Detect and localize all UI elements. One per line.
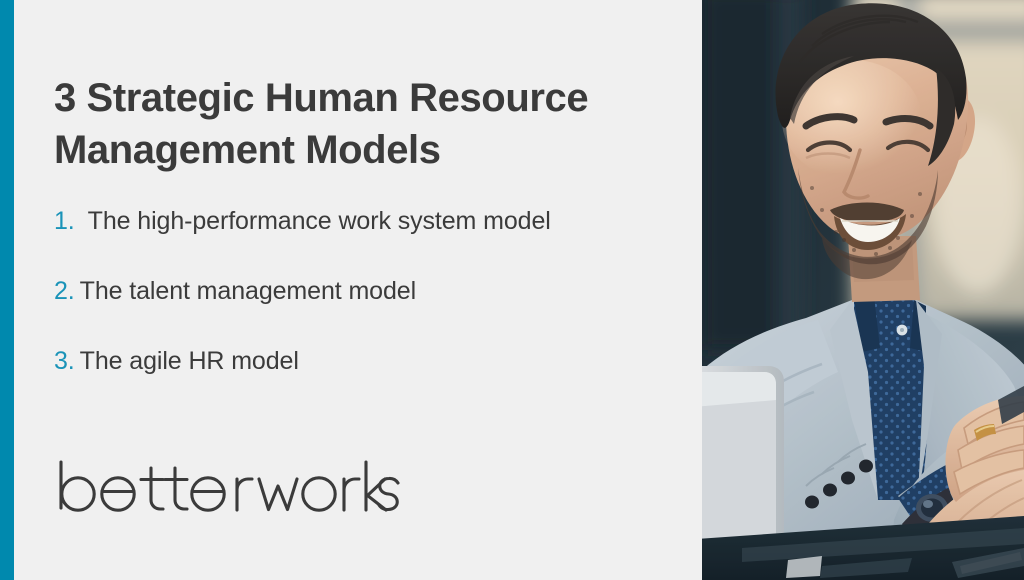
list-item: 2. The talent management model (54, 277, 684, 347)
list-item: 1. The high-performance work system mode… (54, 207, 684, 277)
list-item-label: The agile HR model (80, 347, 299, 376)
betterworks-logo (56, 458, 401, 520)
betterworks-wordmark-icon (56, 458, 401, 520)
left-accent-bar (0, 0, 14, 580)
list-item: 3. The agile HR model (54, 347, 684, 417)
hero-photo (702, 0, 1024, 580)
businessman-at-laptop-image (702, 0, 1024, 580)
list-item-number: 2. (54, 277, 75, 306)
page-title-line-1: 3 Strategic Human Resource (54, 72, 674, 124)
page-title: 3 Strategic Human Resource Management Mo… (54, 72, 674, 176)
content-panel: 3 Strategic Human Resource Management Mo… (14, 0, 702, 580)
list-item-label: The talent management model (80, 277, 416, 306)
list-item-label: The high-performance work system model (88, 207, 551, 236)
list-item-number: 1. (54, 207, 75, 236)
page-title-line-2: Management Models (54, 124, 674, 176)
list-item-number: 3. (54, 347, 75, 376)
model-list: 1. The high-performance work system mode… (54, 207, 684, 417)
slide-canvas: 3 Strategic Human Resource Management Mo… (0, 0, 1024, 580)
